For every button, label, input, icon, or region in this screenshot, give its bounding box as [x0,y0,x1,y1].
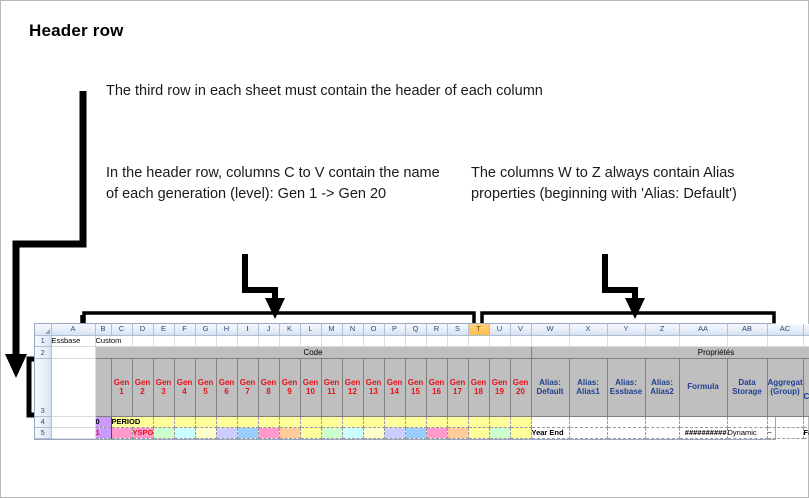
table-row[interactable]: 3 Gen 1 Gen 2 Gen 3 Gen 4 Gen 5 Gen 6 Ge… [35,358,809,416]
cell-A2[interactable] [51,346,95,358]
gen-header-3[interactable]: Gen 3 [153,358,174,416]
cell-Q5[interactable] [405,427,426,438]
table-row[interactable]: 4 0 PERIOD [35,416,809,427]
cell-Q4[interactable] [405,416,426,427]
cell-F4[interactable] [174,416,195,427]
cell-H1[interactable] [216,335,237,346]
cell-AC4[interactable] [767,416,803,427]
cell-Z1[interactable] [645,335,679,346]
select-all-corner[interactable] [35,324,51,335]
cell-O1[interactable] [363,335,384,346]
gen-header-17[interactable]: Gen 17 [447,358,468,416]
cell-L1[interactable] [300,335,321,346]
callout-header-row-text: The third row in each sheet must contain… [106,81,666,102]
cell-T5[interactable] [468,427,489,438]
callout-generations-text: In the header row, columns C to V contai… [106,163,451,204]
cell-H4[interactable] [216,416,237,427]
cell-M5[interactable] [321,427,342,438]
slide-canvas: Header row The third row in each sheet m… [0,0,809,498]
cell-T4[interactable] [468,416,489,427]
gen-header-4[interactable]: Gen 4 [174,358,195,416]
column-header-Y[interactable]: Y [607,324,645,335]
column-header-AD[interactable]: AD [803,324,809,335]
cell-O5[interactable] [363,427,384,438]
cell-AD4[interactable] [803,416,809,427]
table-row[interactable]: 2 Code Propriétés [35,346,809,358]
cell-AD1[interactable] [803,335,809,346]
gen-header-12[interactable]: Gen 12 [342,358,363,416]
row-header-4[interactable]: 4 [35,416,51,427]
cell-W1[interactable] [531,335,569,346]
gen-header-13[interactable]: Gen 13 [363,358,384,416]
spreadsheet-table[interactable]: A B C D E F G H I J K L M N O P Q R S T [35,324,809,439]
cell-D1[interactable] [132,335,153,346]
column-header-X[interactable]: X [569,324,607,335]
cell-S1[interactable] [447,335,468,346]
cell-V5[interactable] [510,427,531,438]
cell-C5[interactable] [111,427,132,438]
gen-header-6[interactable]: Gen 6 [216,358,237,416]
cell-F5[interactable] [174,427,195,438]
gen-header-11[interactable]: Gen 11 [321,358,342,416]
gen-header-5[interactable]: Gen 5 [195,358,216,416]
cell-K1[interactable] [279,335,300,346]
cell-AB4[interactable] [727,416,767,427]
gen-header-7[interactable]: Gen 7 [237,358,258,416]
column-header-U[interactable]: U [489,324,510,335]
column-header-B[interactable]: B [95,324,111,335]
cell-Y4[interactable] [607,416,645,427]
cell-U5[interactable] [489,427,510,438]
cell-K5[interactable] [279,427,300,438]
cell-I4[interactable] [237,416,258,427]
cell-S4[interactable] [447,416,468,427]
cell-E5[interactable] [153,427,174,438]
column-header-E[interactable]: E [153,324,174,335]
gen-header-10[interactable]: Gen 10 [300,358,321,416]
column-header-R[interactable]: R [426,324,447,335]
cell-B3[interactable] [95,358,111,416]
merged-header-code[interactable]: Code [95,346,531,358]
cell-Y5[interactable] [607,427,645,438]
cell-E1[interactable] [153,335,174,346]
gen-header-2[interactable]: Gen 2 [132,358,153,416]
cell-P1[interactable] [384,335,405,346]
page-title: Header row [29,21,124,41]
cell-N5[interactable] [342,427,363,438]
column-header-A[interactable]: A [51,324,95,335]
gen-header-1[interactable]: Gen 1 [111,358,132,416]
gen-header-14[interactable]: Gen 14 [384,358,405,416]
cell-F1[interactable] [174,335,195,346]
column-header-J[interactable]: J [258,324,279,335]
cell-Z5[interactable] [645,427,679,438]
cell-B5[interactable]: 1 [95,427,111,438]
row-header-5[interactable]: 5 [35,427,51,438]
column-header-AA[interactable]: AA [679,324,727,335]
row-header-1[interactable]: 1 [35,335,51,346]
prop-header-alias-alias1[interactable]: Alias: Alias1 [569,358,607,416]
cell-W4[interactable] [531,416,569,427]
cell-W5[interactable]: Year End [531,427,569,438]
column-header-T[interactable]: T [468,324,489,335]
cell-AA5[interactable]: ########## [679,427,727,438]
cell-I5[interactable] [237,427,258,438]
gen-header-15[interactable]: Gen 15 [405,358,426,416]
cell-P5[interactable] [384,427,405,438]
cell-J5[interactable] [258,427,279,438]
column-header-AC[interactable]: AC [767,324,803,335]
cell-Q1[interactable] [405,335,426,346]
spreadsheet[interactable]: A B C D E F G H I J K L M N O P Q R S T [34,323,776,440]
cell-A4[interactable] [51,416,95,427]
cell-G4[interactable] [195,416,216,427]
cell-AA1[interactable] [679,335,727,346]
cell-A1[interactable]: Essbase [51,335,95,346]
table-row[interactable]: 1 Essbase Custom [35,335,809,346]
cell-AC5[interactable]: ~ [767,427,803,438]
cell-J4[interactable] [258,416,279,427]
column-header-G[interactable]: G [195,324,216,335]
cell-L5[interactable] [300,427,321,438]
cell-N1[interactable] [342,335,363,346]
cell-J1[interactable] [258,335,279,346]
cell-U4[interactable] [489,416,510,427]
gen-header-18[interactable]: Gen 18 [468,358,489,416]
cell-AD5[interactable]: False [803,427,809,438]
prop-header-formula[interactable]: Formula [679,358,727,416]
column-header-D[interactable]: D [132,324,153,335]
cell-R4[interactable] [426,416,447,427]
cell-AC1[interactable] [767,335,803,346]
column-header-O[interactable]: O [363,324,384,335]
column-header-L[interactable]: L [300,324,321,335]
cell-E4[interactable] [153,416,174,427]
cell-N4[interactable] [342,416,363,427]
prop-header-data-storage[interactable]: Data Storage [727,358,767,416]
cell-AB5[interactable]: Dynamic [727,427,767,438]
prop-header-aggregation[interactable]: Aggregation (Group) [767,358,803,416]
prop-header-alias-default[interactable]: Alias: Default [531,358,569,416]
column-header-H[interactable]: H [216,324,237,335]
gen-header-20[interactable]: Gen 20 [510,358,531,416]
column-header-row[interactable]: A B C D E F G H I J K L M N O P Q R S T [35,324,809,335]
cell-M1[interactable] [321,335,342,346]
cell-Z4[interactable] [645,416,679,427]
cell-V1[interactable] [510,335,531,346]
cell-A3[interactable] [51,358,95,416]
cell-H5[interactable] [216,427,237,438]
gen-header-16[interactable]: Gen 16 [426,358,447,416]
cell-AB1[interactable] [727,335,767,346]
row-header-2[interactable]: 2 [35,346,51,358]
cell-X4[interactable] [569,416,607,427]
cell-O4[interactable] [363,416,384,427]
cell-A5[interactable] [51,427,95,438]
cell-R5[interactable] [426,427,447,438]
cell-X1[interactable] [569,335,607,346]
column-header-Q[interactable]: Q [405,324,426,335]
cell-X5[interactable] [569,427,607,438]
column-header-C[interactable]: C [111,324,132,335]
cell-B1[interactable]: Custom [95,335,111,346]
column-header-K[interactable]: K [279,324,300,335]
column-header-AB[interactable]: AB [727,324,767,335]
table-row[interactable]: 5 1 YSPOT [35,427,809,438]
column-header-F[interactable]: F [174,324,195,335]
cell-L4[interactable] [300,416,321,427]
column-header-S[interactable]: S [447,324,468,335]
cell-G5[interactable] [195,427,216,438]
cell-Y1[interactable] [607,335,645,346]
cell-S5[interactable] [447,427,468,438]
callout-alias-text: The columns W to Z always contain Alias … [471,163,771,204]
column-header-W[interactable]: W [531,324,569,335]
cell-K4[interactable] [279,416,300,427]
cell-I1[interactable] [237,335,258,346]
cell-AA4[interactable] [679,416,727,427]
prop-header-alias-essbase[interactable]: Alias: Essbase [607,358,645,416]
merged-header-properties[interactable]: Propriétés [531,346,809,358]
column-header-V[interactable]: V [510,324,531,335]
gen-header-19[interactable]: Gen 19 [489,358,510,416]
prop-header-two-pass-calc[interactable]: Two Pass Calculation [803,358,809,416]
row-header-3[interactable]: 3 [35,358,51,416]
cell-V4[interactable] [510,416,531,427]
cell-R1[interactable] [426,335,447,346]
column-header-P[interactable]: P [384,324,405,335]
cell-P4[interactable] [384,416,405,427]
column-header-I[interactable]: I [237,324,258,335]
cell-T1[interactable] [468,335,489,346]
column-header-M[interactable]: M [321,324,342,335]
cell-C4[interactable]: PERIOD [111,416,153,427]
prop-header-alias-alias2[interactable]: Alias: Alias2 [645,358,679,416]
cell-G1[interactable] [195,335,216,346]
cell-U1[interactable] [489,335,510,346]
cell-B4[interactable]: 0 [95,416,111,427]
cell-M4[interactable] [321,416,342,427]
cell-D5[interactable]: YSPOT [132,427,153,438]
column-header-N[interactable]: N [342,324,363,335]
gen-header-8[interactable]: Gen 8 [258,358,279,416]
column-header-Z[interactable]: Z [645,324,679,335]
gen-header-9[interactable]: Gen 9 [279,358,300,416]
